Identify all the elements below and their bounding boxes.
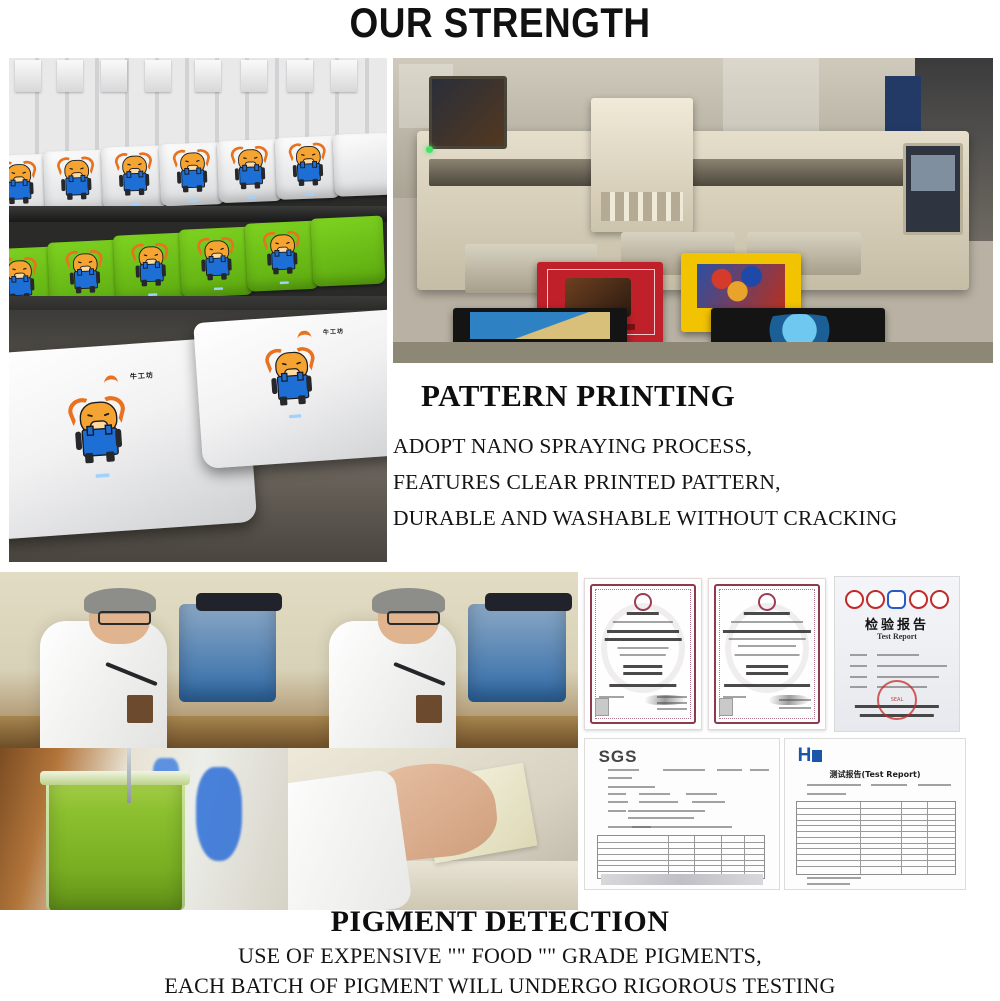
pigment-detection-line-2: EACH BATCH OF PIGMENT WILL UNDERGO RIGOR… (0, 971, 1000, 1001)
lab-technician-photo-right (288, 572, 578, 748)
lab-technician-photo-left (0, 572, 288, 748)
screen-printing-photo: 牛工坊 牛工坊 (9, 58, 387, 562)
printer-monitor (429, 76, 507, 149)
pigment-detection-line-1: USE OF EXPENSIVE "" FOOD "" GRADE PIGMEN… (0, 941, 1000, 971)
pattern-printing-section: PATTERN PRINTING ADOPT NANO SPRAYING PRO… (393, 378, 1000, 536)
agency-logo-icon-3 (930, 590, 949, 609)
h-logo: H (798, 745, 823, 767)
green-pigment-beaker-photo (0, 748, 288, 910)
h-report-doc: H 测试报告(Test Report) (784, 738, 966, 890)
iso-certificate-right (708, 578, 826, 730)
sgs-results-table (597, 835, 766, 879)
sgs-logo: SGS (599, 747, 638, 767)
certificates-panel: 检验报告 Test Report SEAL SGS (578, 572, 1000, 910)
press-table: 牛工坊 牛工坊 (9, 310, 387, 562)
pattern-printing-line-3: DURABLE AND WASHABLE WITHOUT CRACKING (393, 500, 1000, 536)
red-seal-stamp-icon: SEAL (877, 680, 917, 720)
certification-logos (845, 589, 949, 609)
iso-certificate-left (584, 578, 702, 730)
pigment-detection-heading: PIGMENT DETECTION (0, 903, 1000, 941)
inspection-report-title-en: Test Report (835, 632, 959, 641)
ccc-logo-icon (845, 590, 864, 609)
agency-logo-icon (866, 590, 885, 609)
page-title: OUR STRENGTH (60, 0, 940, 52)
pattern-printing-line-2: FEATURES CLEAR PRINTED PATTERN, (393, 464, 1000, 500)
inspection-report-doc: 检验报告 Test Report SEAL (834, 576, 960, 732)
hand-sample-photo (288, 748, 578, 910)
printer-control-panel[interactable] (903, 143, 963, 234)
printed-shirt-back: 牛工坊 (193, 307, 387, 469)
pattern-printing-heading: PATTERN PRINTING (421, 378, 1000, 414)
printer-gantry-rail (429, 159, 957, 186)
shirt-row-white (9, 130, 387, 218)
agency-logo-icon-2 (909, 590, 928, 609)
shirt-row-green (9, 208, 387, 299)
h-report-title: 测试报告(Test Report) (785, 769, 965, 780)
h-results-table (796, 801, 956, 875)
blue-agency-logo-icon (887, 590, 906, 609)
pattern-printing-line-1: ADOPT NANO SPRAYING PROCESS, (393, 428, 1000, 464)
sgs-report-doc: SGS (584, 738, 780, 890)
dtg-printer-photo: JUNIOR COMPANY SHARKS (393, 58, 993, 363)
pigment-detection-section: PIGMENT DETECTION USE OF EXPENSIVE "" FO… (0, 903, 1000, 1001)
print-head-carriage (591, 98, 693, 232)
inspection-report-title-cn: 检验报告 (835, 614, 959, 633)
